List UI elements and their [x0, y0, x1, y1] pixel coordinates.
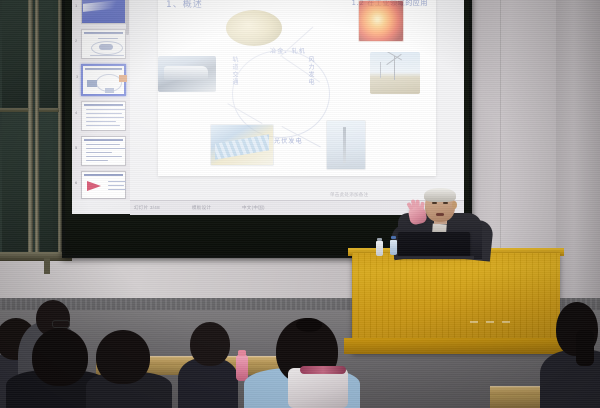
podium-marking: [502, 321, 510, 323]
blackboard-frame: [39, 108, 59, 112]
diagram-label-top: 冶金、轧机: [270, 46, 306, 55]
notes-placeholder: 单击此处添加备注: [330, 192, 368, 198]
water-bottle: [376, 241, 383, 256]
thumbnail-scrollbar[interactable]: [126, 0, 129, 35]
laptop-base: [394, 256, 474, 259]
ppt-slide-canvas[interactable]: 1、概述 1.2 在工业领域的应用: [130, 0, 464, 200]
thumbnail-number: 4: [75, 110, 77, 115]
pink-water-bottle: [236, 355, 248, 381]
slide-thumbnail-3[interactable]: 3: [81, 64, 126, 96]
blackboard-frame: [35, 0, 39, 254]
thumbnail-number: 3: [76, 74, 78, 79]
thumbnail-number: 5: [75, 145, 77, 150]
ppt-current-slide[interactable]: 1、概述 1.2 在工业领域的应用: [158, 0, 436, 176]
slide-thumbnail-2[interactable]: 2: [81, 29, 126, 59]
blackboard-panel: [40, 0, 58, 108]
speaker-eye: [432, 202, 437, 204]
projected-powerpoint[interactable]: 1 2 3: [72, 0, 464, 214]
ppt-slide-thumbnail-panel[interactable]: 1 2 3: [72, 0, 131, 200]
speaker-mouth: [436, 213, 444, 216]
blackboard-panel: [2, 112, 28, 252]
bottle-cap: [377, 238, 382, 241]
wall-column: [556, 0, 600, 312]
white-bag: [288, 368, 348, 408]
diagram-label-right: 风力发电: [306, 56, 315, 86]
bag-strap: [300, 366, 346, 374]
bottle-cap: [391, 236, 396, 239]
speaker-ear: [452, 201, 457, 209]
podium-marking: [470, 321, 478, 323]
slide-thumbnail-5[interactable]: 5: [81, 136, 126, 166]
wind-turbine-image: [370, 52, 420, 94]
diagram-label-bottom: 光伏发电: [274, 136, 303, 145]
podium-marking: [486, 321, 494, 323]
wheat-field-image: [226, 10, 282, 46]
glasses-icon: [52, 320, 70, 328]
slide-thumbnail-1[interactable]: 1: [81, 0, 126, 24]
water-bottle: [390, 240, 397, 255]
slide-thumbnail-4[interactable]: 4: [81, 101, 126, 131]
power-tower-image: [326, 120, 366, 170]
slide-thumbnail-6[interactable]: 6: [81, 171, 126, 199]
blackboard-panel: [40, 112, 58, 252]
molten-steel-image: [358, 0, 404, 42]
lecture-hall-photo: 1 2 3: [0, 0, 600, 408]
blackboard-frame: [0, 108, 28, 112]
status-language: 中文(中国): [242, 205, 265, 211]
blackboard-panel: [2, 0, 28, 108]
speaker-hair: [424, 188, 456, 202]
blackboard-support: [44, 258, 50, 274]
thumbnail-number: 1: [75, 3, 77, 8]
status-theme: 模板设计: [192, 205, 211, 211]
status-slide-indicator: 幻灯片 3/48: [134, 205, 160, 211]
podium-laptop[interactable]: [398, 232, 470, 258]
slide-title: 1、概述: [166, 0, 203, 10]
speaker-eye: [443, 202, 448, 204]
podium-base: [344, 338, 568, 354]
thumbnail-number: 2: [75, 38, 77, 43]
train-image: [158, 56, 216, 92]
solar-panel-image: [210, 124, 274, 166]
thumbnail-number: 6: [75, 180, 77, 185]
bottle-cap: [238, 350, 246, 356]
diagram-label-left: 轨道交通: [230, 56, 239, 86]
blackboard-frame: [28, 0, 33, 254]
